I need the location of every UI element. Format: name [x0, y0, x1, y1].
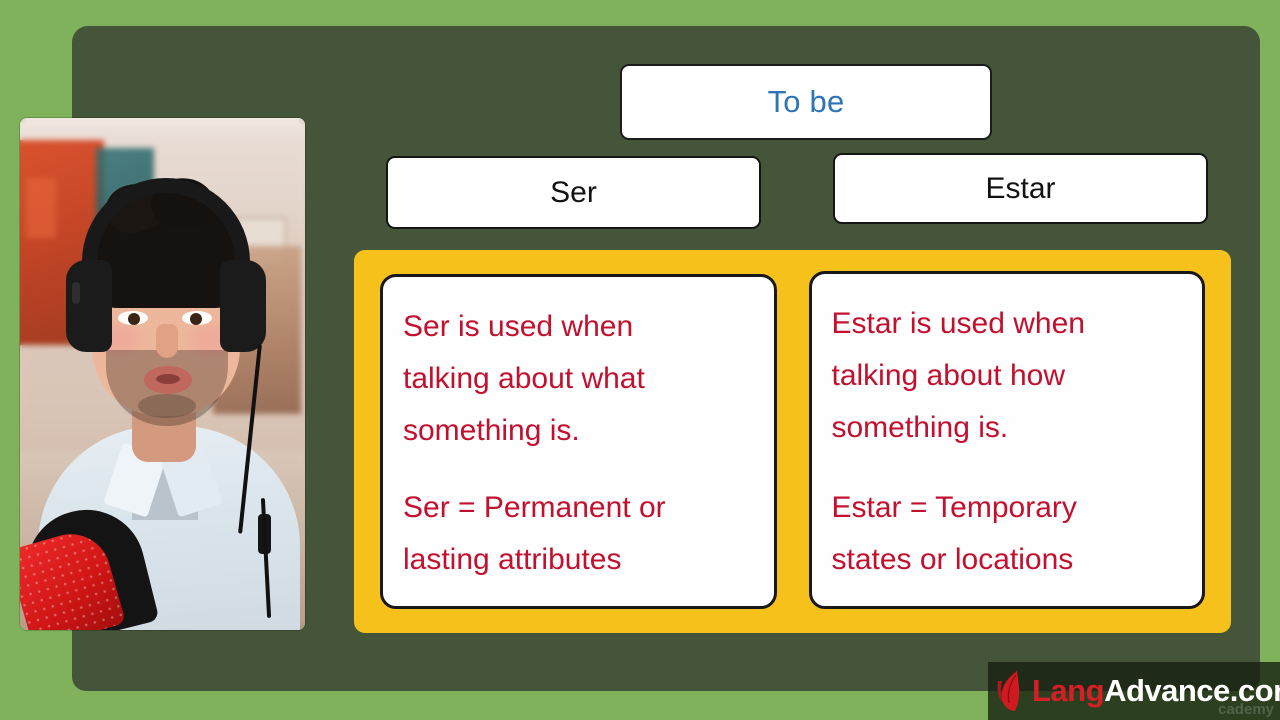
person-chin-shadow [138, 394, 196, 418]
webcam-scene [20, 118, 305, 630]
instructor-webcam-video[interactable] [20, 118, 305, 630]
column-heading-label: Estar [985, 172, 1055, 206]
person-pupil-left [128, 313, 140, 325]
info-card-paragraph-primary: Ser is used when talking about what some… [403, 301, 754, 457]
column-heading-label: Ser [550, 176, 597, 210]
column-heading-ser: Ser [386, 156, 761, 229]
person-mouth-opening [156, 374, 180, 384]
headphone-earcup-right [220, 260, 266, 352]
info-card-paragraph-secondary: Ser = Permanent or lasting attributes [403, 482, 754, 586]
page-title: To be [768, 84, 845, 120]
brand-logo[interactable]: LangAdvance.com cademy [988, 662, 1280, 720]
brand-watermark: cademy [1218, 701, 1274, 718]
comparison-panel: Ser is used when talking about what some… [354, 250, 1231, 633]
headphone-earcup-left [66, 260, 112, 352]
paragraph-spacer [403, 457, 754, 482]
info-card-paragraph-primary: Estar is used when talking about how som… [832, 298, 1183, 454]
info-card-paragraph-secondary: Estar = Temporary states or locations [832, 482, 1183, 586]
column-heading-estar: Estar [833, 153, 1208, 224]
info-card-ser: Ser is used when talking about what some… [380, 274, 777, 609]
leaf-flame-icon [996, 669, 1030, 713]
person-nose [156, 324, 178, 358]
paragraph-spacer [832, 454, 1183, 482]
person-pupil-right [190, 313, 202, 325]
info-card-estar: Estar is used when talking about how som… [809, 271, 1206, 609]
brand-name-primary: Lang [1032, 673, 1104, 708]
slide-title-box: To be [620, 64, 992, 140]
